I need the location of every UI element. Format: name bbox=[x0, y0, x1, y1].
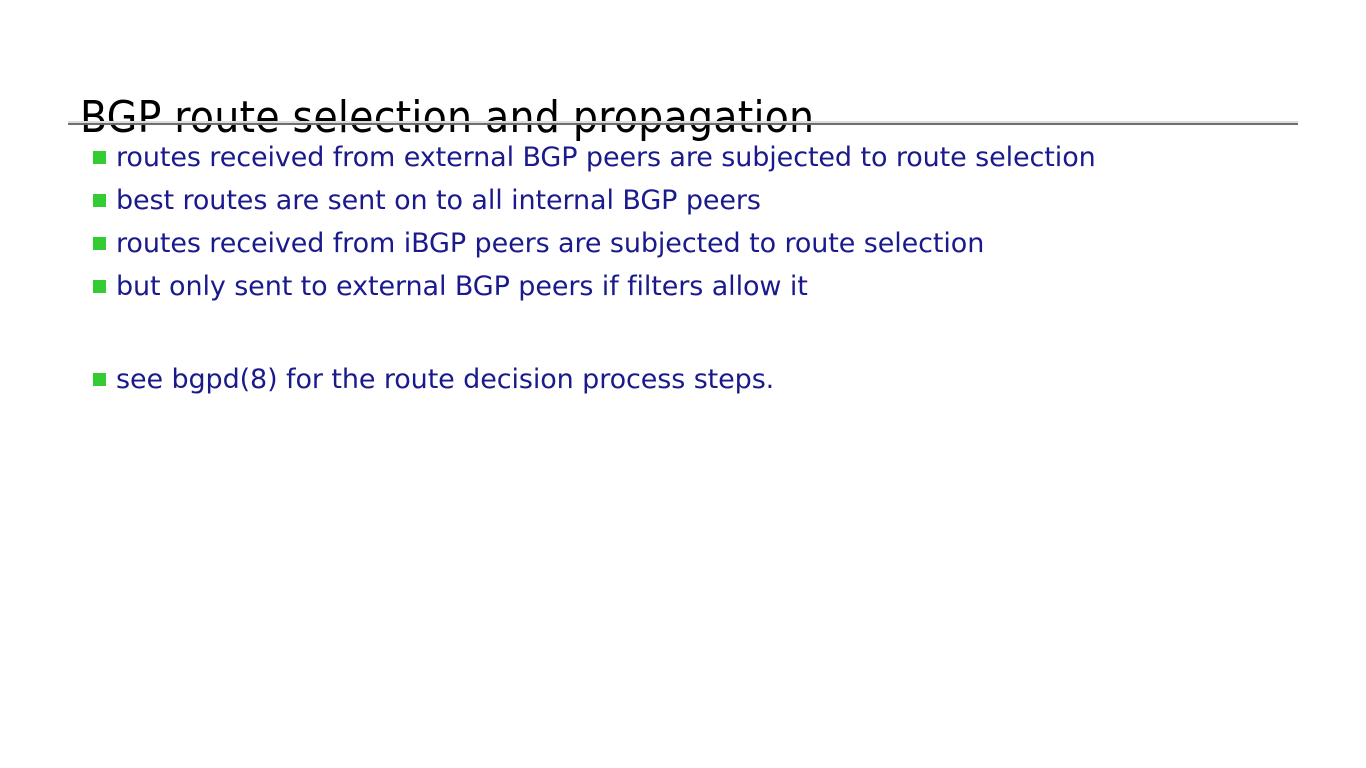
square-bullet-icon bbox=[93, 373, 106, 386]
page-title: BGP route selection and propagation bbox=[80, 91, 1300, 145]
list-item: see bgpd(8) for the route decision proce… bbox=[93, 361, 1333, 404]
square-bullet-icon bbox=[93, 151, 106, 164]
slide-canvas: BGP route selection and propagation rout… bbox=[0, 0, 1366, 768]
square-bullet-icon bbox=[93, 237, 106, 250]
list-item-label: but only sent to external BGP peers if f… bbox=[116, 268, 1333, 306]
list-item-label: routes received from iBGP peers are subj… bbox=[116, 225, 1333, 263]
list-item-label: see bgpd(8) for the route decision proce… bbox=[116, 361, 1333, 399]
list-item: but only sent to external BGP peers if f… bbox=[93, 268, 1333, 311]
list-item: routes received from external BGP peers … bbox=[93, 139, 1333, 182]
divider-shadow bbox=[68, 123, 1298, 125]
blank-bullet-icon bbox=[93, 323, 106, 336]
square-bullet-icon bbox=[93, 280, 106, 293]
title-divider bbox=[68, 121, 1298, 125]
list-item-label: best routes are sent on to all internal … bbox=[116, 182, 1333, 220]
list-item-spacer bbox=[93, 311, 1333, 361]
square-bullet-icon bbox=[93, 194, 106, 207]
list-item-label: routes received from external BGP peers … bbox=[116, 139, 1333, 177]
list-item: routes received from iBGP peers are subj… bbox=[93, 225, 1333, 268]
list-item: best routes are sent on to all internal … bbox=[93, 182, 1333, 225]
bullet-list: routes received from external BGP peers … bbox=[93, 139, 1333, 404]
